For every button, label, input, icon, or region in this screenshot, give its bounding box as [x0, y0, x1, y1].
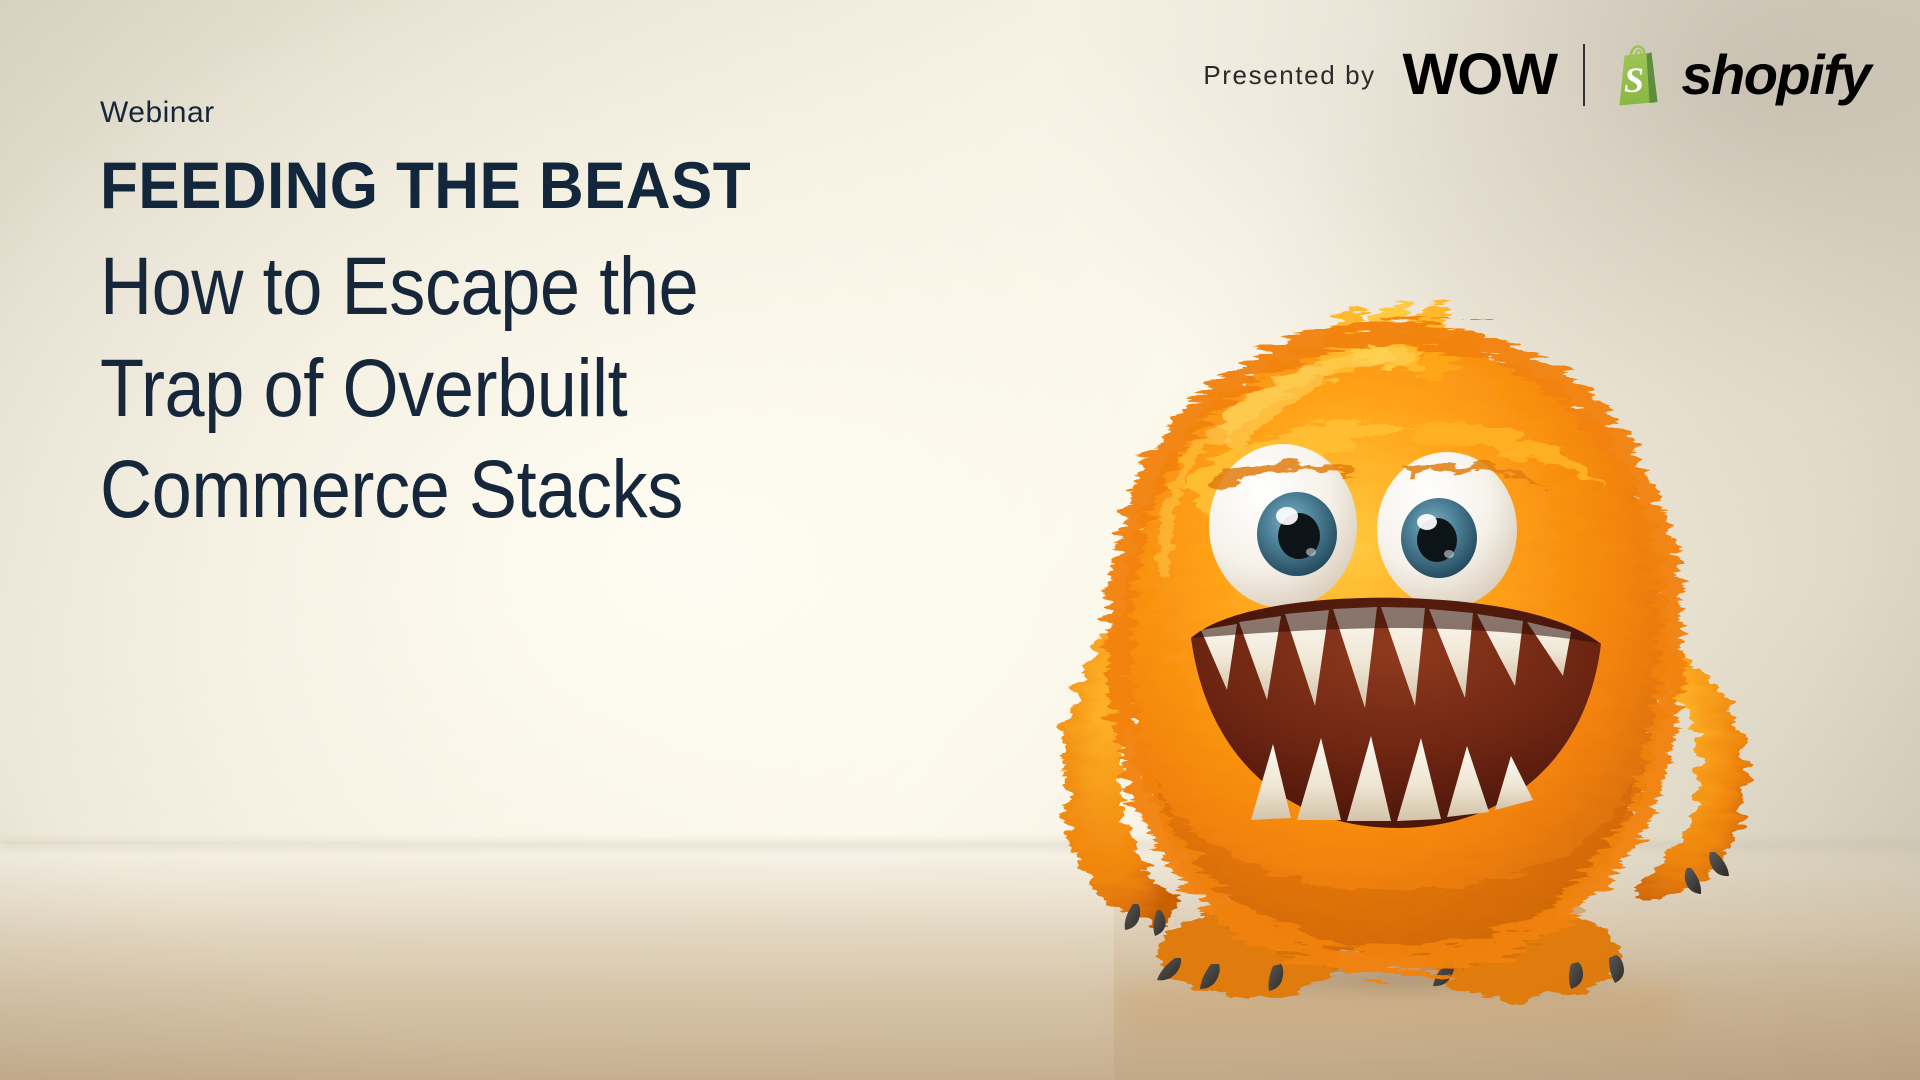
wow-logo: WOW	[1402, 46, 1557, 104]
monster-illustration	[1015, 308, 1775, 1008]
floor-gloss-left	[0, 844, 1114, 1080]
eyebrow-label: Webinar	[100, 96, 793, 130]
subtitle-block: How to Escape the Trap of Overbuilt Comm…	[100, 236, 793, 541]
shopify-bag-icon: S	[1613, 44, 1667, 106]
subtitle-line-3: Commerce Stacks	[100, 439, 709, 541]
subtitle-line-2: Trap of Overbuilt	[100, 338, 709, 440]
shopify-wordmark: shopify	[1681, 47, 1870, 103]
shopify-bag-letter: S	[1624, 60, 1644, 100]
promo-canvas: Presented by WOW S	[0, 0, 1920, 1080]
headline-block: Webinar FEEDING THE BEAST How to Escape …	[100, 96, 793, 541]
page-title: FEEDING THE BEAST	[100, 152, 751, 218]
monster-eye-right	[1377, 452, 1517, 608]
presented-by-label: Presented by	[1203, 60, 1375, 91]
presented-by-lockup: Presented by WOW S	[1203, 44, 1870, 106]
shopify-logo: S shopify	[1613, 44, 1870, 106]
logo-divider	[1583, 44, 1585, 106]
subtitle-line-1: How to Escape the	[100, 236, 709, 338]
